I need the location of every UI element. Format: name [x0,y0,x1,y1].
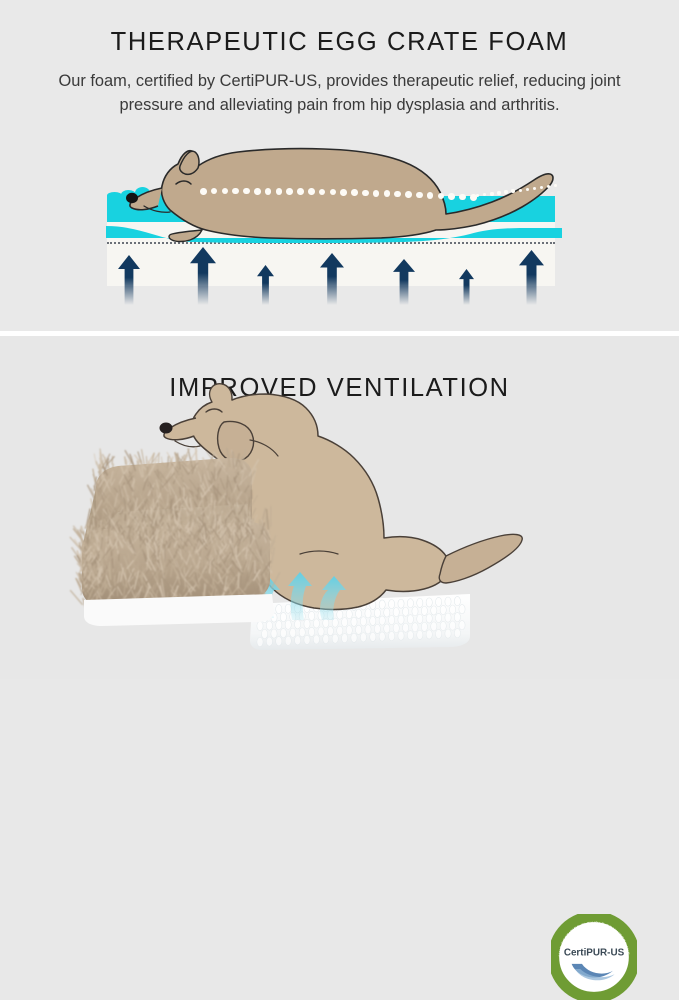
dog-ear-2 [218,422,254,462]
support-arrow [257,265,274,305]
spine-dot [504,190,507,193]
foam-bump [304,635,310,644]
section-therapeutic-foam: THERAPEUTIC EGG CRATE FOAM Our foam, cer… [0,0,679,331]
foam-bump [407,599,413,608]
foam-bump [360,633,366,642]
fur-strand [260,520,261,535]
support-arrow [459,269,474,305]
spine-dot [351,189,358,196]
arrow-shape [320,253,344,305]
foam-bump [421,606,427,615]
spine-dot [526,188,529,191]
foam-bump [370,632,376,641]
spine-dot [232,188,239,195]
foam-bump [342,618,348,627]
foam-bump [450,621,456,630]
spine-dot [243,188,250,195]
fur-strand [190,465,191,478]
foam-bump [445,629,451,638]
foam-bump [403,623,409,632]
fur-strand [206,557,207,565]
spine-dot [330,189,337,196]
foam-bump [262,629,268,638]
foam-bump [299,628,305,637]
fur-strand [94,454,96,465]
spine-dot [497,191,500,194]
spine-dot [319,189,326,196]
foam-bump [351,617,357,626]
fur-strand [202,498,203,508]
spine-dot [254,188,261,195]
foam-bump [436,629,442,638]
support-arrow [320,253,344,305]
foam-bump [417,614,423,623]
foam-bump [454,597,460,606]
foam-bump [440,605,446,614]
foam-bump [365,625,371,634]
foam-bump [421,622,427,631]
foam-bump [295,636,301,645]
certipur-us-badge: CertiPUR-US CONTAINS CERTIFIED FLEXIBLE … [551,914,637,1000]
foam-bump [426,614,432,623]
fur-strand [100,452,101,469]
fur-strand [216,471,217,479]
spine-dot [554,184,557,187]
foam-bump [276,605,282,614]
foam-bump [412,607,418,616]
foam-bump [309,611,315,620]
foam-bump [285,620,291,629]
spine-dot [438,193,445,200]
foam-bump [459,605,465,614]
foam-bump [374,608,380,617]
foam-bump [436,613,442,622]
support-arrows-group [0,230,679,305]
dog-mouth-2 [175,441,200,447]
spine-dot [416,192,423,199]
fur-strand [71,591,83,605]
foam-bump [342,634,348,643]
arrow-shape [519,250,544,305]
spine-dot [211,188,218,195]
section1-body-text: Our foam, certified by CertiPUR-US, prov… [28,70,651,117]
foam-bump [318,627,324,636]
spine-dot [547,185,550,188]
foam-bump [379,600,385,609]
foam-bump [346,626,352,635]
foam-bump [290,628,296,637]
foam-bump [384,608,390,617]
fur-strand [212,478,213,485]
spine-dot [276,188,283,195]
fur-strand [269,520,270,534]
infographic-page: THERAPEUTIC EGG CRATE FOAM Our foam, cer… [0,0,679,679]
spine-dot [297,188,304,195]
support-arrow [190,247,216,305]
fur-strand [246,547,247,558]
spine-dot [265,188,272,195]
foam-bump [426,598,432,607]
spine-dot [490,192,493,195]
fur-strand [238,519,239,528]
foam-bump [266,637,272,646]
fur-strand [182,470,183,488]
arrow-shape [118,255,140,305]
dog-nose-2 [160,423,173,434]
arrow-shape [393,259,415,305]
foam-bump [445,597,451,606]
spine-dot [340,189,347,196]
foam-bump [398,615,404,624]
spine-dot [222,188,229,195]
foam-bump [398,631,404,640]
foam-bump [445,613,451,622]
fur-strand [125,457,126,464]
fur-strand [94,565,95,573]
foam-bump [276,621,282,630]
fur-strand [153,499,154,508]
fur-strand [249,561,250,572]
foam-bump [309,627,315,636]
foam-bump [365,609,371,618]
foam-bump [271,629,277,638]
ventilation-illustration [0,336,679,679]
foam-bump [454,629,460,638]
fur-strand [88,485,95,498]
foam-bump [313,619,319,628]
foam-bump [304,619,310,628]
foam-bump [459,621,465,630]
spine-dot [511,189,514,192]
section-improved-ventilation: IMPROVED VENTILATION [0,336,679,679]
arrow-shape [190,247,216,305]
foam-bump [313,635,319,644]
foam-bump [285,604,291,613]
foam-bump [276,637,282,646]
fur-strand [127,505,128,514]
foam-bump [370,616,376,625]
spine-dot [533,187,536,190]
spine-dot [384,190,391,197]
spine-dot [476,194,479,197]
foam-bump [431,622,437,631]
foam-bump [417,630,423,639]
spine-dot [405,191,412,198]
foam-bump [351,633,357,642]
fur-strand [185,568,186,587]
foam-bump [379,616,385,625]
spine-dot [308,188,315,195]
foam-bump [346,610,352,619]
fur-strand [96,462,98,469]
foam-bump [407,615,413,624]
foam-bump [403,607,409,616]
foam-bump [337,610,343,619]
badge-brand-text: CertiPUR-US [564,947,625,958]
spine-dot [200,188,207,195]
support-arrow [393,259,415,305]
foam-bump [426,630,432,639]
foam-bump [389,600,395,609]
spine-dot [448,193,455,200]
foam-bump [266,621,272,630]
dog-tail [439,534,522,583]
support-arrow [118,255,140,305]
fur-strand [196,512,197,521]
foam-bump [412,623,418,632]
foam-bump [295,620,301,629]
spine-dot [286,188,293,195]
foam-bump [384,624,390,633]
foam-bump [280,629,286,638]
support-arrow [519,250,544,305]
foam-bump [379,632,385,641]
fur-strand [232,476,233,483]
foam-bump [417,598,423,607]
spine-dot [373,190,380,197]
foam-bump [337,626,343,635]
arrow-shape [459,269,474,305]
spine-dot [540,186,543,189]
foam-bump [327,626,333,635]
foam-bump [356,609,362,618]
foam-bump [436,597,442,606]
foam-bump [454,613,460,622]
foam-bump [431,606,437,615]
fur-strand [100,549,101,558]
fur-strand [210,561,211,573]
foam-bump [257,621,263,630]
spine-dot [483,193,486,196]
foam-bump [398,599,404,608]
spine-dot [362,190,369,197]
foam-bump [450,605,456,614]
fur-strand [159,485,160,492]
foam-bump [280,613,286,622]
foam-bump [393,624,399,633]
fur-strand [123,507,124,524]
foam-bump [257,637,263,646]
fluffy-bolster-bed [70,448,280,626]
spine-dot [459,194,466,201]
foam-bump [323,634,329,643]
foam-bump [393,608,399,617]
foam-bump [389,616,395,625]
spine-dot [519,189,522,192]
foam-bump [374,624,380,633]
spine-dot [427,192,434,199]
foam-bump [389,632,395,641]
arrow-shape [257,265,274,305]
spine-dot [394,191,401,198]
foam-bump [440,621,446,630]
section1-title: THERAPEUTIC EGG CRATE FOAM [0,28,679,57]
foam-bump [285,636,291,645]
foam-bump [360,617,366,626]
foam-bump [332,634,338,643]
foam-bump [407,631,413,640]
foam-bump [356,625,362,634]
